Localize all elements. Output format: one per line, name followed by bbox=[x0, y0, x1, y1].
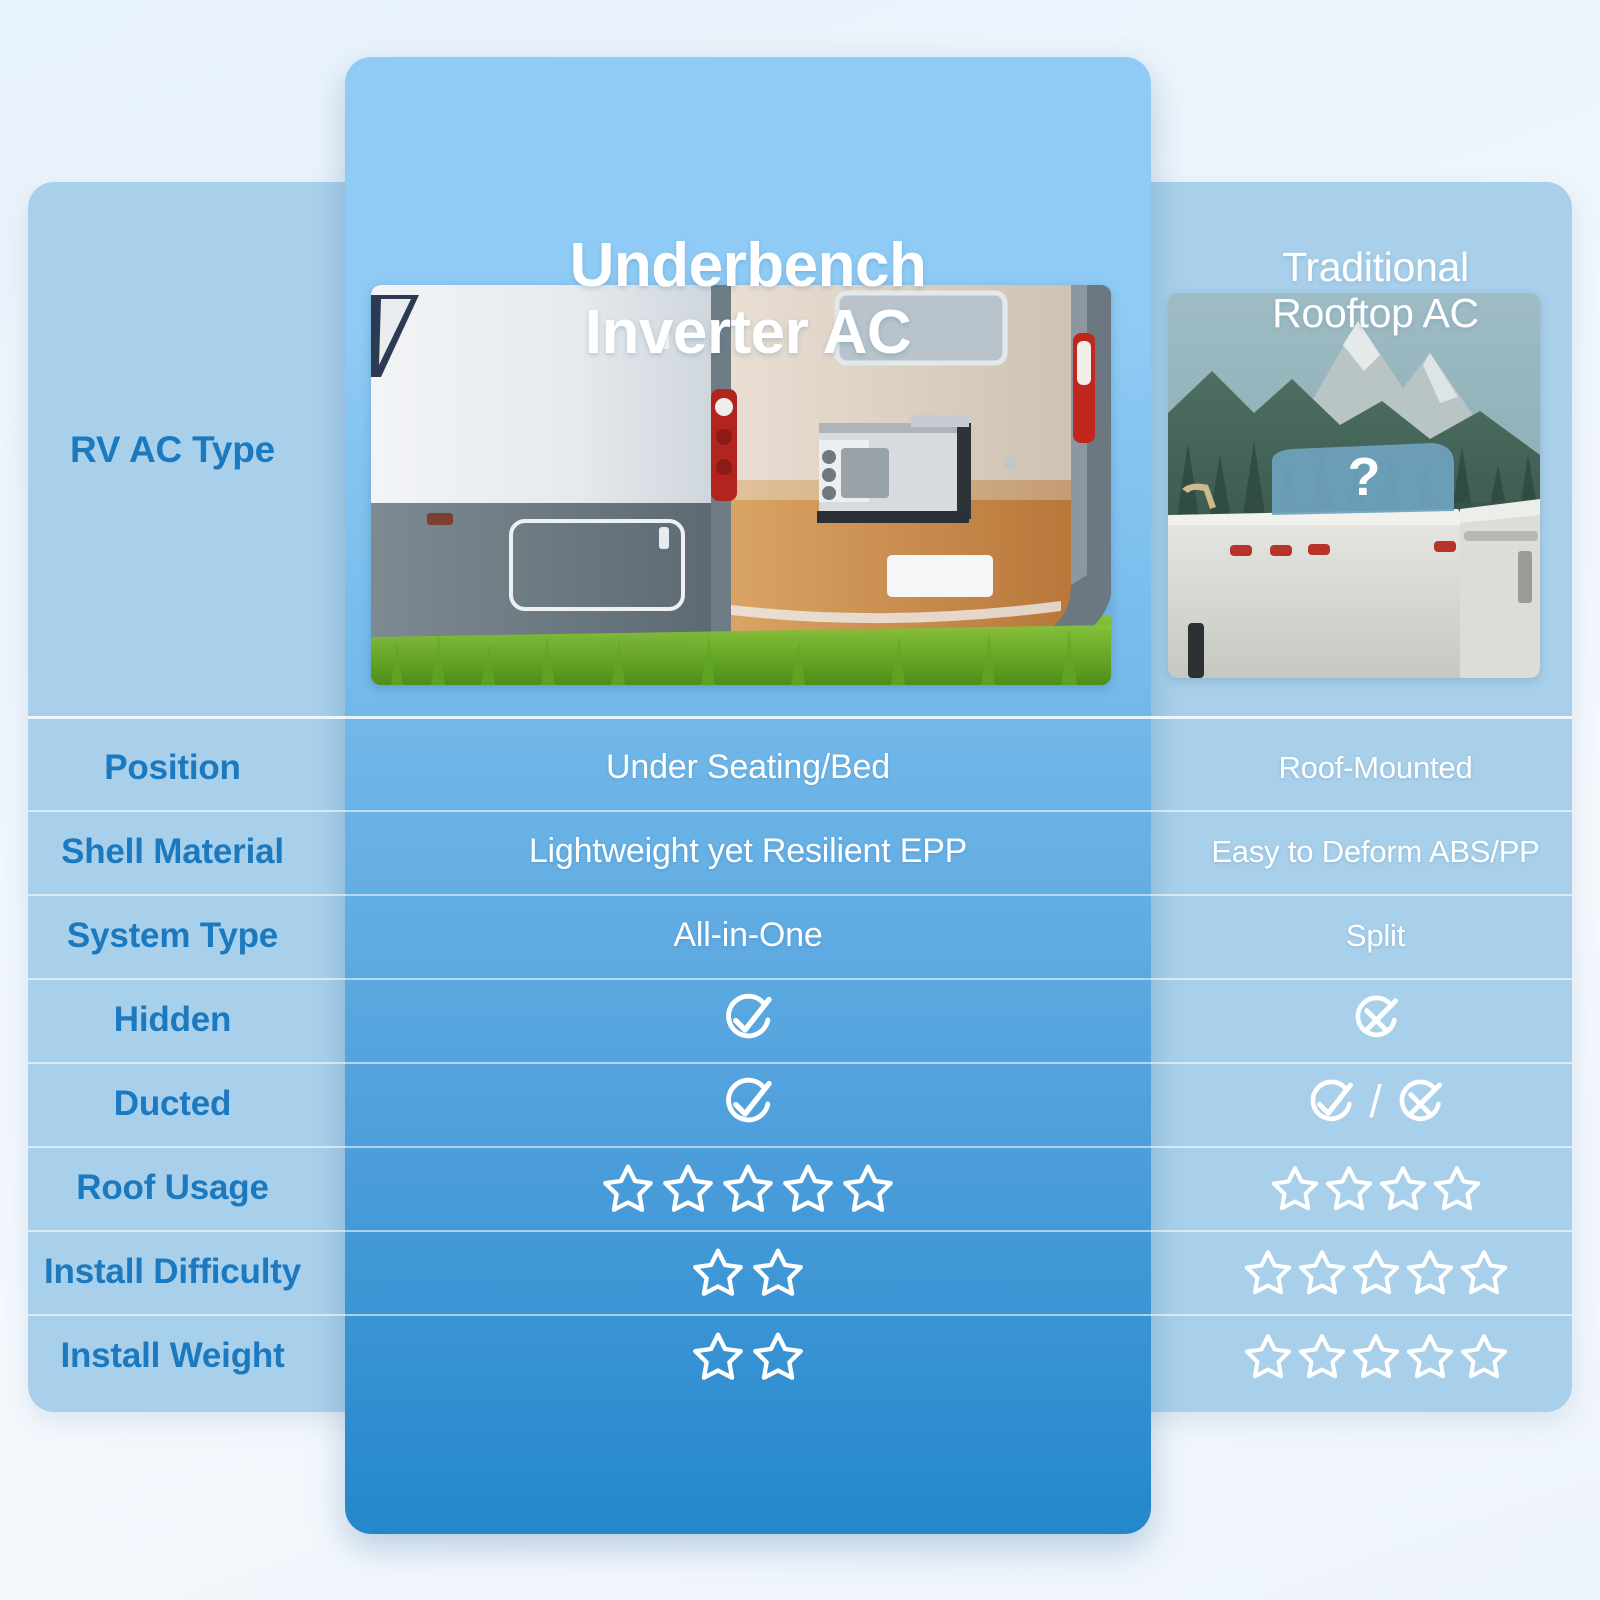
star-icon bbox=[1457, 1245, 1511, 1299]
star-icon bbox=[1241, 1329, 1295, 1383]
row-label: Position bbox=[104, 748, 240, 788]
row-divider bbox=[28, 1062, 1572, 1064]
header-label-cell: RV AC Type bbox=[0, 182, 345, 718]
row-center-cell: Lightweight yet Resilient EPP bbox=[345, 810, 1151, 894]
row-right-cell: Split bbox=[1151, 894, 1600, 978]
cell-value-text: Under Seating/Bed bbox=[606, 748, 890, 787]
cell-value-text: Split bbox=[1346, 918, 1405, 954]
row-label-cell: Install Difficulty bbox=[0, 1230, 345, 1314]
separator-slash: / bbox=[1363, 1076, 1388, 1128]
row-right-cell: Easy to Deform ABS/PP bbox=[1151, 810, 1600, 894]
star-icon bbox=[1403, 1245, 1457, 1299]
row-label-cell: Hidden bbox=[0, 978, 345, 1062]
check-mark bbox=[720, 992, 776, 1048]
row-right-cell bbox=[1151, 1230, 1600, 1314]
row-label: System Type bbox=[67, 916, 278, 956]
check-mark bbox=[720, 1076, 776, 1132]
row-label-cell: Shell Material bbox=[0, 810, 345, 894]
row-center-cell bbox=[345, 1146, 1151, 1230]
row-right-cell bbox=[1151, 1314, 1600, 1398]
star-rating bbox=[689, 1327, 807, 1385]
star-icon bbox=[1295, 1329, 1349, 1383]
right-column-title: Traditional Rooftop AC bbox=[1272, 245, 1479, 655]
row-label: Install Difficulty bbox=[44, 1252, 301, 1292]
row-right-cell bbox=[1151, 978, 1600, 1062]
center-title-line1: Underbench bbox=[570, 233, 927, 300]
row-label-cell: Install Weight bbox=[0, 1314, 345, 1398]
cross-mark bbox=[1350, 994, 1402, 1046]
check-circle-icon bbox=[1305, 1078, 1357, 1130]
row-center-cell: All-in-One bbox=[345, 894, 1151, 978]
row-divider bbox=[28, 894, 1572, 896]
row-right-cell: / bbox=[1151, 1062, 1600, 1146]
rv-ac-type-label: RV AC Type bbox=[70, 429, 275, 472]
right-title-line2: Rooftop AC bbox=[1272, 291, 1479, 337]
star-icon bbox=[1430, 1161, 1484, 1215]
star-rating bbox=[1241, 1245, 1511, 1299]
table-row: Roof Usage bbox=[0, 1146, 1600, 1230]
row-center-cell bbox=[345, 978, 1151, 1062]
star-icon bbox=[1349, 1245, 1403, 1299]
star-icon bbox=[599, 1159, 657, 1217]
right-title-line1: Traditional bbox=[1272, 245, 1479, 291]
row-right-cell: Roof-Mounted bbox=[1151, 726, 1600, 810]
star-rating bbox=[1268, 1161, 1484, 1215]
star-icon bbox=[1403, 1329, 1457, 1383]
row-label: Install Weight bbox=[60, 1336, 284, 1376]
table-row: Hidden bbox=[0, 978, 1600, 1062]
star-icon bbox=[1376, 1161, 1430, 1215]
row-label: Shell Material bbox=[61, 832, 284, 872]
star-rating bbox=[599, 1159, 897, 1217]
star-icon bbox=[1268, 1161, 1322, 1215]
row-divider bbox=[28, 978, 1572, 980]
row-label: Roof Usage bbox=[76, 1168, 268, 1208]
star-icon bbox=[689, 1243, 747, 1301]
table-row: Ducted/ bbox=[0, 1062, 1600, 1146]
header-center-cell: Underbench Inverter AC bbox=[345, 182, 1151, 718]
cell-value-text: Lightweight yet Resilient EPP bbox=[529, 832, 967, 871]
star-icon bbox=[839, 1159, 897, 1217]
row-divider bbox=[28, 1146, 1572, 1148]
row-divider bbox=[28, 1314, 1572, 1316]
table-row: Shell MaterialLightweight yet Resilient … bbox=[0, 810, 1600, 894]
check-or-cross-mark: / bbox=[1305, 1078, 1446, 1130]
star-icon bbox=[1241, 1245, 1295, 1299]
cell-value-text: Easy to Deform ABS/PP bbox=[1211, 834, 1539, 870]
row-right-cell bbox=[1151, 1146, 1600, 1230]
check-circle-icon bbox=[720, 1076, 776, 1132]
star-icon bbox=[779, 1159, 837, 1217]
table-row: Install Weight bbox=[0, 1314, 1600, 1398]
header-right-cell: Traditional Rooftop AC bbox=[1151, 182, 1600, 718]
check-circle-icon bbox=[720, 992, 776, 1048]
star-icon bbox=[1322, 1161, 1376, 1215]
header-divider bbox=[28, 716, 1572, 719]
table-row: System TypeAll-in-OneSplit bbox=[0, 894, 1600, 978]
header-row: RV AC Type Underbench Inverter AC Tradit… bbox=[0, 182, 1600, 718]
row-label-cell: Position bbox=[0, 726, 345, 810]
row-center-cell bbox=[345, 1062, 1151, 1146]
star-icon bbox=[1457, 1329, 1511, 1383]
row-center-cell bbox=[345, 1230, 1151, 1314]
row-center-cell: Under Seating/Bed bbox=[345, 726, 1151, 810]
star-icon bbox=[749, 1327, 807, 1385]
row-label: Ducted bbox=[114, 1084, 231, 1124]
cell-value-text: All-in-One bbox=[673, 916, 822, 955]
row-divider bbox=[28, 810, 1572, 812]
star-icon bbox=[659, 1159, 717, 1217]
comparison-grid: RV AC Type Underbench Inverter AC Tradit… bbox=[0, 0, 1600, 1600]
row-label-cell: Ducted bbox=[0, 1062, 345, 1146]
table-row: PositionUnder Seating/BedRoof-Mounted bbox=[0, 726, 1600, 810]
row-label-cell: Roof Usage bbox=[0, 1146, 345, 1230]
star-icon bbox=[749, 1243, 807, 1301]
star-icon bbox=[1295, 1245, 1349, 1299]
cross-circle-icon bbox=[1350, 994, 1402, 1046]
star-icon bbox=[719, 1159, 777, 1217]
row-center-cell bbox=[345, 1314, 1151, 1398]
star-icon bbox=[1349, 1329, 1403, 1383]
table-row: Install Difficulty bbox=[0, 1230, 1600, 1314]
row-divider bbox=[28, 1230, 1572, 1232]
center-column-title: Underbench Inverter AC bbox=[570, 233, 927, 667]
star-icon bbox=[689, 1327, 747, 1385]
center-title-line2: Inverter AC bbox=[570, 300, 927, 367]
star-rating bbox=[689, 1243, 807, 1301]
row-label-cell: System Type bbox=[0, 894, 345, 978]
cell-value-text: Roof-Mounted bbox=[1278, 750, 1472, 786]
cross-circle-icon bbox=[1394, 1078, 1446, 1130]
row-label: Hidden bbox=[114, 1000, 231, 1040]
star-rating bbox=[1241, 1329, 1511, 1383]
